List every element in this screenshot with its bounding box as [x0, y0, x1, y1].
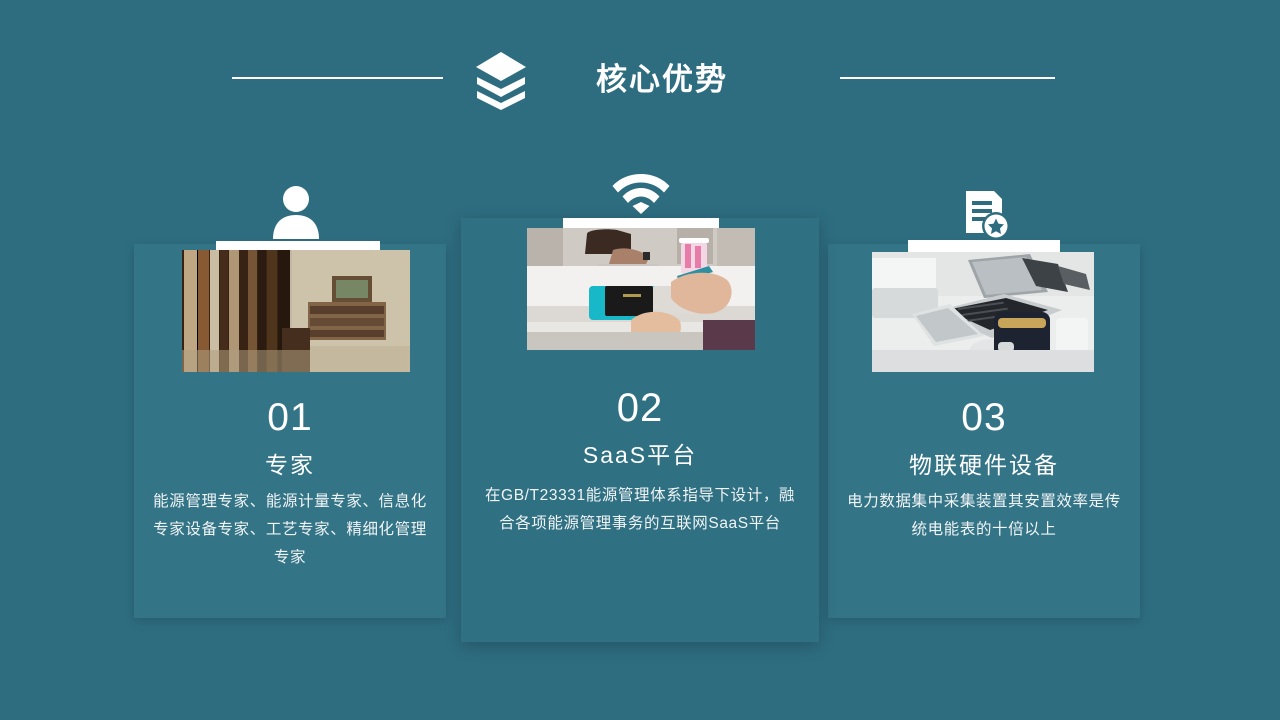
wifi-icon [612, 172, 670, 214]
card-title: 物联硬件设备 [828, 450, 1140, 480]
laptop-desk-photo [872, 252, 1094, 372]
card-title: SaaS平台 [461, 440, 819, 470]
card-number: 02 [461, 386, 819, 430]
header-rule-left [232, 77, 443, 79]
slide-header: 核心优势 [0, 44, 1280, 114]
library-bookshelf-photo [182, 250, 410, 372]
page-title: 核心优势 [596, 56, 816, 104]
card-title: 专家 [134, 450, 446, 480]
card-description: 在GB/T23331能源管理体系指导下设计，融合各项能源管理事务的互联网SaaS… [478, 482, 802, 538]
layers-stack-icon [473, 50, 529, 110]
card-number: 03 [828, 396, 1140, 440]
header-rule-right [840, 77, 1055, 79]
document-star-icon [960, 190, 1010, 240]
slide-root: 核心优势 [0, 0, 1280, 720]
card-number: 01 [134, 396, 446, 440]
card-description: 电力数据集中采集装置其安置效率是传统电能表的十倍以上 [842, 488, 1126, 544]
meeting-desk-tablet-photo [527, 228, 755, 350]
person-icon [268, 183, 324, 239]
card-description: 能源管理专家、能源计量专家、信息化专家设备专家、工艺专家、精细化管理专家 [148, 488, 432, 572]
